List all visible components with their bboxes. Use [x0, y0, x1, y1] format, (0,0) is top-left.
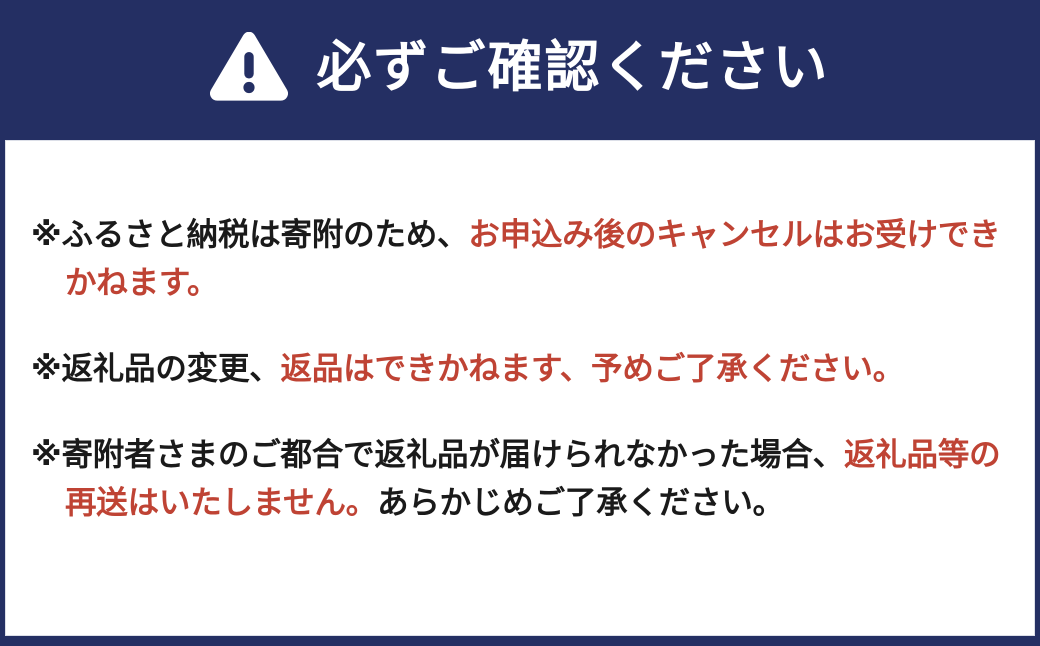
- list-item: ※返礼品の変更、返品はできかねます、予めご了承ください。: [31, 346, 1009, 394]
- notice-text-black: 返礼品の変更、: [61, 351, 280, 387]
- important-notice-card: 必ずご確認ください ※ふるさと納税は寄附のため、お申込み後のキャンセルはお受けで…: [0, 0, 1040, 646]
- page-title: 必ずご確認ください: [316, 40, 829, 95]
- notice-text-black: あらかじめご了承ください。: [377, 485, 784, 521]
- notice-body-panel: ※ふるさと納税は寄附のため、お申込み後のキャンセルはお受けできかねます。 ※返礼…: [5, 140, 1035, 636]
- notice-text-black: ふるさと納税は寄附のため、: [61, 217, 468, 253]
- notice-text-red: 返品はできかねます、予めご了承ください。: [281, 351, 904, 387]
- notice-header-band: 必ずご確認ください: [0, 0, 1040, 140]
- list-item: ※寄附者さまのご都合で返礼品が届けられなかった場合、返礼品等の再送はいたしません…: [31, 432, 1009, 528]
- notice-marker: ※: [31, 351, 61, 387]
- notice-text-black: 寄附者さまのご都合で返礼品が届けられなかった場合、: [61, 437, 844, 473]
- notice-marker: ※: [31, 217, 61, 253]
- notice-marker: ※: [31, 437, 61, 473]
- notice-list: ※ふるさと納税は寄附のため、お申込み後のキャンセルはお受けできかねます。 ※返礼…: [31, 212, 1009, 527]
- list-item: ※ふるさと納税は寄附のため、お申込み後のキャンセルはお受けできかねます。: [31, 212, 1009, 308]
- warning-triangle-icon: [210, 32, 288, 102]
